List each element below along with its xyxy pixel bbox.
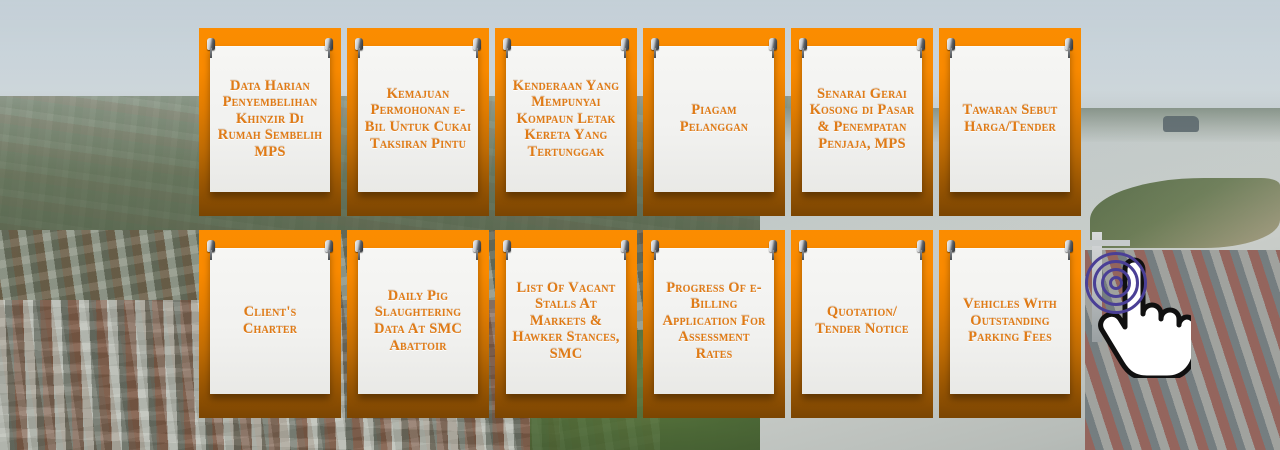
card-title: Vehicles With Outstanding Parking Fees [955, 296, 1065, 346]
pin-clip-left-icon [503, 240, 511, 260]
note-paper: List Of Vacant Stalls At Markets & Hawke… [506, 248, 626, 394]
note-paper: Piagam Pelanggan [654, 46, 774, 192]
note-paper: Senarai Gerai Kosong di Pasar & Penempat… [802, 46, 922, 192]
card-title: Kenderaan Yang Mempunyai Kompaun Letak K… [511, 78, 621, 161]
services-card-grid: Data Harian Penyembelihan Khinzir Di Rum… [199, 28, 1081, 418]
card-title: Kemajuan Permohonan e-Bil Untuk Cukai Ta… [363, 86, 473, 152]
card-row-1: Data Harian Penyembelihan Khinzir Di Rum… [199, 28, 1081, 216]
pin-clip-right-icon [769, 38, 777, 58]
note-paper: Progress Of e-Billing Application For As… [654, 248, 774, 394]
card-title: Data Harian Penyembelihan Khinzir Di Rum… [215, 78, 325, 161]
card-title: Client's Charter [215, 304, 325, 337]
card-kemajuan-permohonan-ebil[interactable]: Kemajuan Permohonan e-Bil Untuk Cukai Ta… [347, 28, 489, 216]
card-senarai-gerai-kosong[interactable]: Senarai Gerai Kosong di Pasar & Penempat… [791, 28, 933, 216]
pin-clip-left-icon [207, 38, 215, 58]
pin-clip-left-icon [355, 240, 363, 260]
card-piagam-pelanggan[interactable]: Piagam Pelanggan [643, 28, 785, 216]
card-title: Tawaran Sebut Harga/Tender [955, 102, 1065, 135]
pin-clip-left-icon [799, 38, 807, 58]
note-paper: Quotation/ Tender Notice [802, 248, 922, 394]
card-daily-pig-slaughtering-data[interactable]: Daily Pig Slaughtering Data At SMC Abatt… [347, 230, 489, 418]
note-paper: Data Harian Penyembelihan Khinzir Di Rum… [210, 46, 330, 192]
card-data-harian-penyembelihan[interactable]: Data Harian Penyembelihan Khinzir Di Rum… [199, 28, 341, 216]
card-progress-of-ebilling-application[interactable]: Progress Of e-Billing Application For As… [643, 230, 785, 418]
card-title: Senarai Gerai Kosong di Pasar & Penempat… [807, 86, 917, 152]
pin-clip-left-icon [947, 240, 955, 260]
card-title: Quotation/ Tender Notice [807, 304, 917, 337]
pin-clip-right-icon [325, 38, 333, 58]
note-paper: Kemajuan Permohonan e-Bil Untuk Cukai Ta… [358, 46, 478, 192]
pin-clip-right-icon [1065, 38, 1073, 58]
card-title: Daily Pig Slaughtering Data At SMC Abatt… [363, 288, 473, 354]
pin-clip-right-icon [917, 38, 925, 58]
card-row-2: Client's Charter Daily Pig Slaughtering … [199, 230, 1081, 418]
note-paper: Client's Charter [210, 248, 330, 394]
pin-clip-right-icon [621, 240, 629, 260]
card-clients-charter[interactable]: Client's Charter [199, 230, 341, 418]
card-title: Progress Of e-Billing Application For As… [659, 280, 769, 363]
pin-clip-left-icon [651, 38, 659, 58]
pin-clip-right-icon [621, 38, 629, 58]
card-quotation-tender-notice[interactable]: Quotation/ Tender Notice [791, 230, 933, 418]
card-kenderaan-kompaun-letak-kereta[interactable]: Kenderaan Yang Mempunyai Kompaun Letak K… [495, 28, 637, 216]
pin-clip-left-icon [207, 240, 215, 260]
pin-clip-left-icon [503, 38, 511, 58]
pin-clip-right-icon [473, 38, 481, 58]
pin-clip-left-icon [799, 240, 807, 260]
pin-clip-right-icon [473, 240, 481, 260]
pin-clip-right-icon [325, 240, 333, 260]
pin-clip-right-icon [917, 240, 925, 260]
pin-clip-left-icon [651, 240, 659, 260]
pin-clip-left-icon [947, 38, 955, 58]
pin-clip-left-icon [355, 38, 363, 58]
note-paper: Kenderaan Yang Mempunyai Kompaun Letak K… [506, 46, 626, 192]
card-vehicles-outstanding-parking-fees[interactable]: Vehicles With Outstanding Parking Fees [939, 230, 1081, 418]
note-paper: Vehicles With Outstanding Parking Fees [950, 248, 1070, 394]
pin-clip-right-icon [769, 240, 777, 260]
card-tawaran-sebut-harga-tender[interactable]: Tawaran Sebut Harga/Tender [939, 28, 1081, 216]
card-title: Piagam Pelanggan [659, 102, 769, 135]
card-list-of-vacant-stalls[interactable]: List Of Vacant Stalls At Markets & Hawke… [495, 230, 637, 418]
pin-clip-right-icon [1065, 240, 1073, 260]
card-title: List Of Vacant Stalls At Markets & Hawke… [511, 280, 621, 363]
note-paper: Daily Pig Slaughtering Data At SMC Abatt… [358, 248, 478, 394]
note-paper: Tawaran Sebut Harga/Tender [950, 46, 1070, 192]
